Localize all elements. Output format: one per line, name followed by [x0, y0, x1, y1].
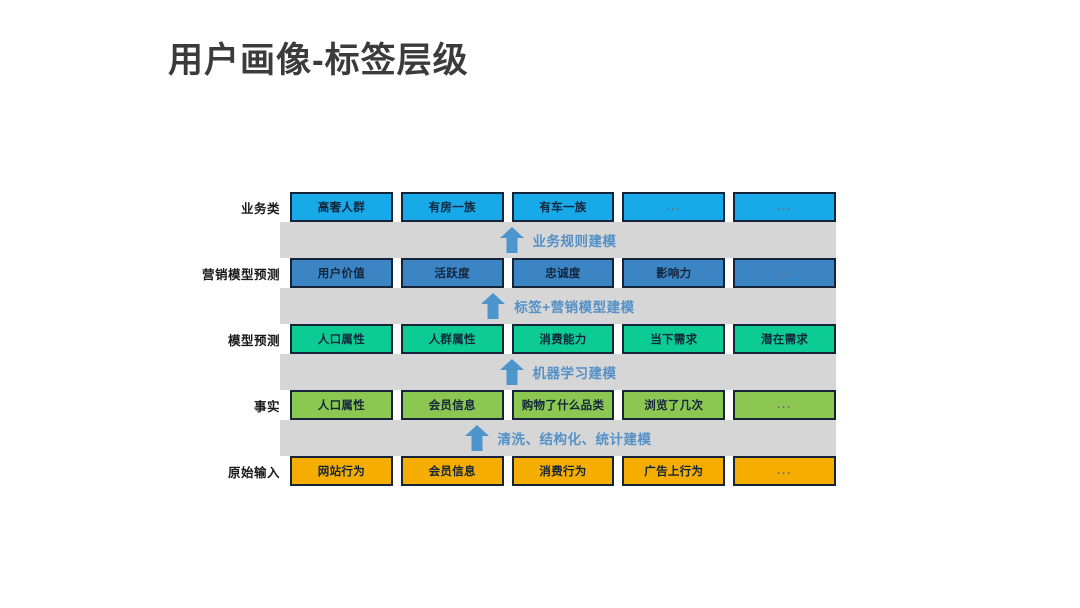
tier-cell[interactable]: 消费能力 [512, 324, 615, 354]
arrow-up-icon [465, 425, 489, 451]
tier-cell[interactable]: ... [733, 258, 836, 288]
tier-cell[interactable]: ... [622, 192, 725, 222]
tier-label-fact: 事实 [196, 396, 290, 415]
band-label-clean-structure-stats: 清洗、结构化、统计建模 [498, 428, 652, 448]
tier-cell[interactable]: 忠诚度 [512, 258, 615, 288]
arrow-up-icon [500, 227, 524, 253]
band-label-machine-learning: 机器学习建模 [533, 362, 617, 382]
tier-cell[interactable]: 活跃度 [401, 258, 504, 288]
tier-cell[interactable]: 有车一族 [512, 192, 615, 222]
tier-cells-fact: 人口属性会员信息购物了什么品类浏览了几次... [290, 390, 836, 420]
tag-hierarchy-diagram: 业务类高奢人群有房一族有车一族......业务规则建模营销模型预测用户价值活跃度… [196, 192, 836, 486]
connector-band-row-machine-learning: 机器学习建模 [196, 354, 836, 390]
band-label-business-rule: 业务规则建模 [533, 230, 617, 250]
tier-label-raw: 原始输入 [196, 462, 290, 481]
tier-cell[interactable]: 潜在需求 [733, 324, 836, 354]
tier-label-model: 模型预测 [196, 330, 290, 349]
tier-cell[interactable]: 购物了什么品类 [512, 390, 615, 420]
tier-cells-raw: 网站行为会员信息消费行为广告上行为... [290, 456, 836, 486]
tier-cell[interactable]: 当下需求 [622, 324, 725, 354]
tier-label-marketing: 营销模型预测 [196, 264, 290, 283]
tier-cells-marketing: 用户价值活跃度忠诚度影响力... [290, 258, 836, 288]
band-spacer [196, 222, 280, 258]
tier-cell[interactable]: 人口属性 [290, 324, 393, 354]
tier-cell[interactable]: 影响力 [622, 258, 725, 288]
tier-cell[interactable]: 用户价值 [290, 258, 393, 288]
connector-band-clean-structure-stats: 清洗、结构化、统计建模 [280, 420, 836, 456]
connector-band-machine-learning: 机器学习建模 [280, 354, 836, 390]
tier-row-business: 业务类高奢人群有房一族有车一族...... [196, 192, 836, 222]
arrow-up-icon [481, 293, 505, 319]
tier-cell[interactable]: 人口属性 [290, 390, 393, 420]
tier-row-fact: 事实人口属性会员信息购物了什么品类浏览了几次... [196, 390, 836, 420]
tier-row-raw: 原始输入网站行为会员信息消费行为广告上行为... [196, 456, 836, 486]
tier-cell[interactable]: 消费行为 [512, 456, 615, 486]
connector-band-row-clean-structure-stats: 清洗、结构化、统计建模 [196, 420, 836, 456]
tier-label-business: 业务类 [196, 198, 290, 217]
tier-row-marketing: 营销模型预测用户价值活跃度忠诚度影响力... [196, 258, 836, 288]
tier-cell[interactable]: 会员信息 [401, 390, 504, 420]
tier-cells-business: 高奢人群有房一族有车一族...... [290, 192, 836, 222]
tier-cell[interactable]: 浏览了几次 [622, 390, 725, 420]
connector-band-business-rule: 业务规则建模 [280, 222, 836, 258]
arrow-up-icon [500, 359, 524, 385]
band-spacer [196, 354, 280, 390]
tier-cell[interactable]: 有房一族 [401, 192, 504, 222]
connector-band-tag-marketing-model: 标签+营销模型建模 [280, 288, 836, 324]
tier-cell[interactable]: ... [733, 192, 836, 222]
page-title: 用户画像-标签层级 [168, 32, 469, 83]
tier-cells-model: 人口属性人群属性消费能力当下需求潜在需求 [290, 324, 836, 354]
tier-cell[interactable]: ... [733, 456, 836, 486]
tier-row-model: 模型预测人口属性人群属性消费能力当下需求潜在需求 [196, 324, 836, 354]
connector-band-row-tag-marketing-model: 标签+营销模型建模 [196, 288, 836, 324]
tier-cell[interactable]: 人群属性 [401, 324, 504, 354]
tier-cell[interactable]: ... [733, 390, 836, 420]
band-label-tag-marketing-model: 标签+营销模型建模 [514, 296, 634, 316]
tier-cell[interactable]: 广告上行为 [622, 456, 725, 486]
tier-cell[interactable]: 高奢人群 [290, 192, 393, 222]
connector-band-row-business-rule: 业务规则建模 [196, 222, 836, 258]
band-spacer [196, 420, 280, 456]
band-spacer [196, 288, 280, 324]
tier-cell[interactable]: 会员信息 [401, 456, 504, 486]
tier-cell[interactable]: 网站行为 [290, 456, 393, 486]
